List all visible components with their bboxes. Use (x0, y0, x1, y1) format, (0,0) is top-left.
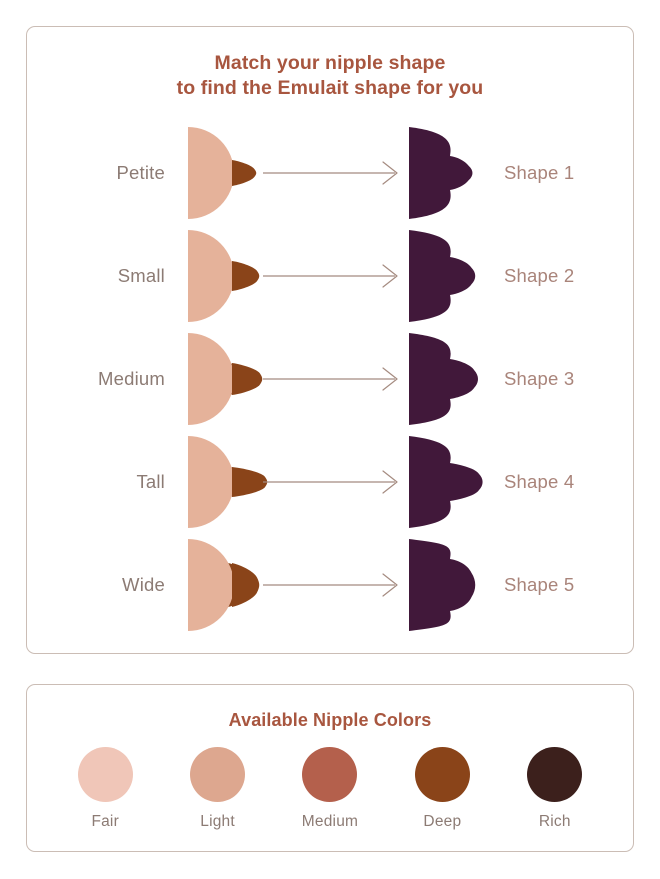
color-swatch-dot[interactable] (415, 747, 470, 802)
product-shape-silhouette (403, 432, 483, 532)
arrow-icon (262, 366, 403, 392)
arrow-icon (262, 263, 403, 289)
color-swatch-list: FairLightMediumDeepRich (27, 747, 633, 831)
match-title-line-2: to find the Emulait shape for you (27, 76, 633, 101)
match-shape-card: Match your nipple shape to find the Emul… (26, 26, 634, 654)
nipple-size-label: Small (27, 265, 182, 287)
product-shape-label: Shape 1 (483, 162, 633, 184)
product-shape-label: Shape 3 (483, 368, 633, 390)
color-swatch-label: Medium (302, 813, 358, 831)
product-shape-label: Shape 4 (483, 471, 633, 493)
match-card-title: Match your nipple shape to find the Emul… (27, 51, 633, 101)
color-swatch[interactable]: Fair (55, 747, 155, 831)
color-swatch-label: Fair (91, 813, 119, 831)
nipple-size-label: Wide (27, 574, 182, 596)
shape-match-row: Medium Shape 3 (27, 327, 633, 430)
product-shape-silhouette (403, 535, 483, 635)
nipple-size-label: Tall (27, 471, 182, 493)
color-swatch[interactable]: Deep (392, 747, 492, 831)
breast-silhouette (182, 226, 262, 326)
breast-silhouette (182, 535, 262, 635)
breast-silhouette (182, 123, 262, 223)
color-swatch-label: Rich (539, 813, 571, 831)
product-shape-label: Shape 2 (483, 265, 633, 287)
available-colors-card: Available Nipple Colors FairLightMediumD… (26, 684, 634, 852)
color-swatch-label: Deep (423, 813, 461, 831)
nipple-size-label: Medium (27, 368, 182, 390)
color-swatch-dot[interactable] (302, 747, 357, 802)
color-swatch-label: Light (200, 813, 235, 831)
arrow-icon (262, 572, 403, 598)
match-title-line-1: Match your nipple shape (27, 51, 633, 76)
nipple-size-label: Petite (27, 162, 182, 184)
nipple-shape-guide-page: Match your nipple shape to find the Emul… (0, 0, 660, 879)
colors-card-title: Available Nipple Colors (27, 709, 633, 732)
product-shape-label: Shape 5 (483, 574, 633, 596)
arrow-icon (262, 469, 403, 495)
color-swatch[interactable]: Medium (280, 747, 380, 831)
product-shape-silhouette (403, 226, 483, 326)
product-shape-silhouette (403, 123, 483, 223)
arrow-icon (262, 160, 403, 186)
breast-silhouette (182, 329, 262, 429)
color-swatch-dot[interactable] (190, 747, 245, 802)
breast-silhouette (182, 432, 262, 532)
color-swatch-dot[interactable] (78, 747, 133, 802)
shape-match-rows: Petite Shape 1Small Shape 2Medium (27, 121, 633, 636)
color-swatch[interactable]: Light (168, 747, 268, 831)
product-shape-silhouette (403, 329, 483, 429)
shape-match-row: Wide Shape 5 (27, 533, 633, 636)
shape-match-row: Petite Shape 1 (27, 121, 633, 224)
color-swatch-dot[interactable] (527, 747, 582, 802)
shape-match-row: Small Shape 2 (27, 224, 633, 327)
shape-match-row: Tall Shape 4 (27, 430, 633, 533)
color-swatch[interactable]: Rich (505, 747, 605, 831)
